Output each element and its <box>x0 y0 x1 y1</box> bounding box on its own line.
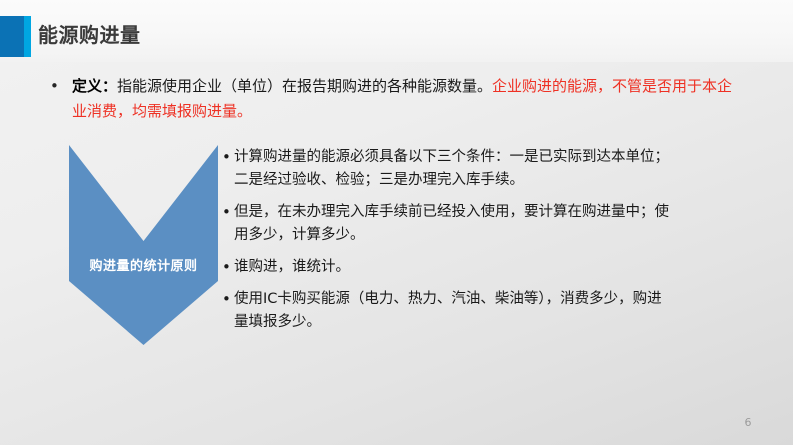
title-accent-light-bar <box>24 16 31 57</box>
definition-text: 定义：指能源使用企业（单位）在报告期购进的各种能源数量。企业购进的能源，不管是否… <box>72 74 746 124</box>
page-title: 能源购进量 <box>38 19 141 48</box>
list-bullet-icon: • <box>222 146 234 169</box>
page-number: 6 <box>738 416 758 429</box>
slide-canvas: 能源购进量 • 定义：指能源使用企业（单位）在报告期购进的各种能源数量。企业购进… <box>0 0 793 445</box>
definition-bullet-icon: • <box>46 74 72 98</box>
list-item: • 计算购进量的能源必须具备以下三个条件：一是已实际到达本单位；二是经过验收、检… <box>222 146 672 192</box>
principles-list: • 计算购进量的能源必须具备以下三个条件：一是已实际到达本单位；二是经过验收、检… <box>222 146 672 343</box>
title-accent-dark-block <box>0 16 24 57</box>
list-item: • 谁购进，谁统计。 <box>222 256 672 279</box>
list-item-text: 但是，在未办理完入库手续前已经投入使用，要计算在购进量中；使用多少，计算多少。 <box>234 201 672 247</box>
chevron-banner-shape <box>69 145 218 345</box>
list-item-text: 使用IC卡购买能源（电力、热力、汽油、柴油等），消费多少，购进量填报多少。 <box>234 288 672 334</box>
list-bullet-icon: • <box>222 201 234 224</box>
list-item: • 使用IC卡购买能源（电力、热力、汽油、柴油等），消费多少，购进量填报多少。 <box>222 288 672 334</box>
definition-label: 定义： <box>72 77 117 95</box>
list-item: • 但是，在未办理完入库手续前已经投入使用，要计算在购进量中；使用多少，计算多少… <box>222 201 672 247</box>
chevron-banner-label: 购进量的统计原则 <box>69 255 218 274</box>
list-bullet-icon: • <box>222 288 234 311</box>
list-item-text: 谁购进，谁统计。 <box>234 256 672 279</box>
definition-body: 指能源使用企业（单位）在报告期购进的各种能源数量。 <box>117 77 492 95</box>
list-item-text: 计算购进量的能源必须具备以下三个条件：一是已实际到达本单位；二是经过验收、检验；… <box>234 146 672 192</box>
list-bullet-icon: • <box>222 256 234 279</box>
definition-paragraph: • 定义：指能源使用企业（单位）在报告期购进的各种能源数量。企业购进的能源，不管… <box>46 74 746 124</box>
